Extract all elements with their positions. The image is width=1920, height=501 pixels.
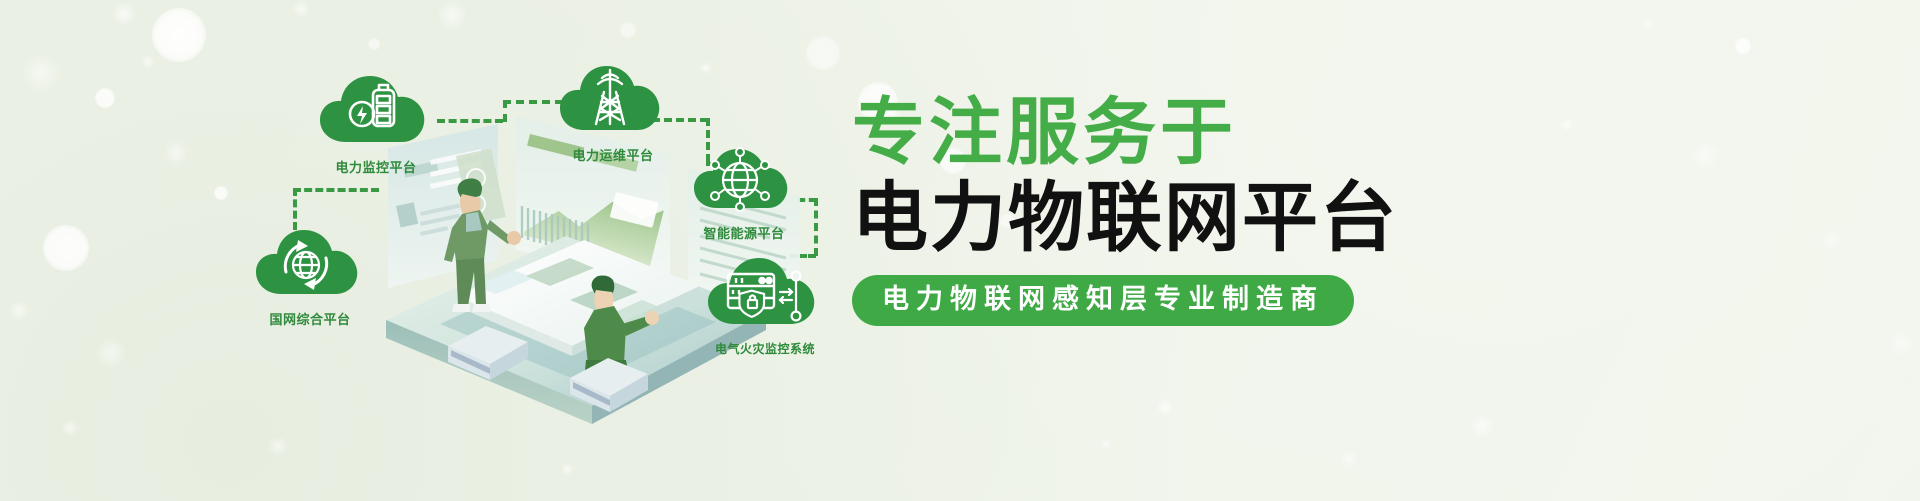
node-label-state-grid: 国网综合平台 (269, 313, 350, 326)
bokeh-circle (1735, 38, 1751, 54)
tagline-badge: 电力物联网感知层专业制造商 (852, 275, 1354, 326)
bokeh-circle (268, 436, 288, 456)
headline-line-2: 电力物联网平台 (852, 181, 1552, 257)
bokeh-circle (292, 0, 310, 18)
bokeh-circle (1690, 140, 1720, 170)
battery-bolt-cloud-icon (316, 68, 436, 155)
bokeh-circle (112, 2, 136, 26)
node-state-grid[interactable]: 国网综合平台 (252, 222, 368, 326)
node-smart-energy[interactable]: 智能能源平台 (690, 140, 798, 240)
bokeh-circle (20, 52, 62, 94)
bokeh-circle (1820, 230, 1842, 252)
connector-stategrid-h (293, 188, 379, 192)
globe-network-cloud-icon (690, 140, 798, 221)
bokeh-circle (1560, 118, 1574, 132)
bokeh-circle (140, 54, 156, 70)
bokeh-circle (700, 62, 712, 74)
cabinet-shield-cloud-icon (704, 250, 826, 337)
bokeh-circle (620, 22, 636, 38)
bokeh-circle (1470, 414, 1494, 438)
node-label-fire-monitoring: 电气火灾监控系统 (715, 343, 815, 355)
node-label-power-monitoring: 电力监控平台 (335, 161, 416, 174)
bokeh-circle (214, 186, 228, 200)
bokeh-circle (8, 300, 30, 322)
node-fire-monitoring[interactable]: 电气火灾监控系统 (704, 250, 826, 355)
bokeh-circle (43, 225, 89, 271)
bokeh-circle (1156, 398, 1174, 416)
bokeh-circle (560, 462, 574, 476)
bokeh-circle (368, 38, 380, 50)
transmission-tower-cloud-icon (556, 58, 670, 143)
bokeh-circle (437, 0, 467, 30)
bokeh-circle (95, 88, 115, 108)
bokeh-circle (152, 8, 206, 62)
connector-top-to-om (503, 100, 563, 104)
bokeh-circle (163, 140, 189, 166)
bokeh-circle (62, 420, 78, 436)
globe-recycle-cloud-icon (252, 222, 368, 307)
bokeh-circle (1340, 450, 1358, 468)
node-power-om[interactable]: 电力运维平台 (556, 58, 670, 162)
headline-line-1: 专注服务于 (852, 96, 1552, 169)
bokeh-circle (1888, 330, 1914, 356)
bokeh-circle (96, 338, 126, 368)
bokeh-circle (1640, 16, 1656, 32)
bokeh-circle (806, 36, 840, 70)
headline-block: 专注服务于 电力物联网平台 电力物联网感知层专业制造商 (852, 96, 1552, 326)
node-label-smart-energy: 智能能源平台 (703, 227, 784, 240)
bokeh-circle (1100, 438, 1112, 450)
node-label-power-om: 电力运维平台 (572, 149, 653, 162)
promo-banner: 电力监控平台 电力运维平台 (0, 0, 1920, 501)
node-power-monitoring[interactable]: 电力监控平台 (316, 68, 436, 174)
